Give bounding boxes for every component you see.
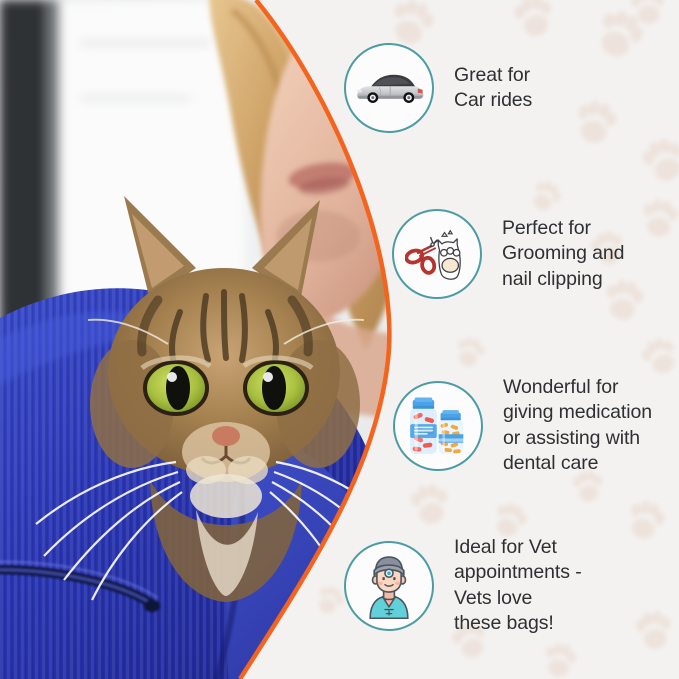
- feature-medication: Wonderful for giving medication or assis…: [393, 375, 652, 476]
- feature-grooming: Perfect for Grooming and nail clipping: [392, 209, 624, 299]
- feature-vet-appointments: Ideal for Vet appointments - Vets love t…: [344, 535, 582, 636]
- feature-medication-label: Wonderful for giving medication or assis…: [503, 375, 652, 476]
- veterinarian-icon: [344, 541, 434, 631]
- feature-grooming-label: Perfect for Grooming and nail clipping: [502, 216, 624, 292]
- feature-car-rides: Great for Car rides: [344, 43, 532, 133]
- nail-clippers-paw-icon: [392, 209, 482, 299]
- car-icon: [344, 43, 434, 133]
- feature-vet-label: Ideal for Vet appointments - Vets love t…: [454, 535, 582, 636]
- pill-bottles-icon: [393, 381, 483, 471]
- feature-car-rides-label: Great for Car rides: [454, 63, 532, 114]
- product-feature-infographic: Great for Car rides: [0, 0, 679, 679]
